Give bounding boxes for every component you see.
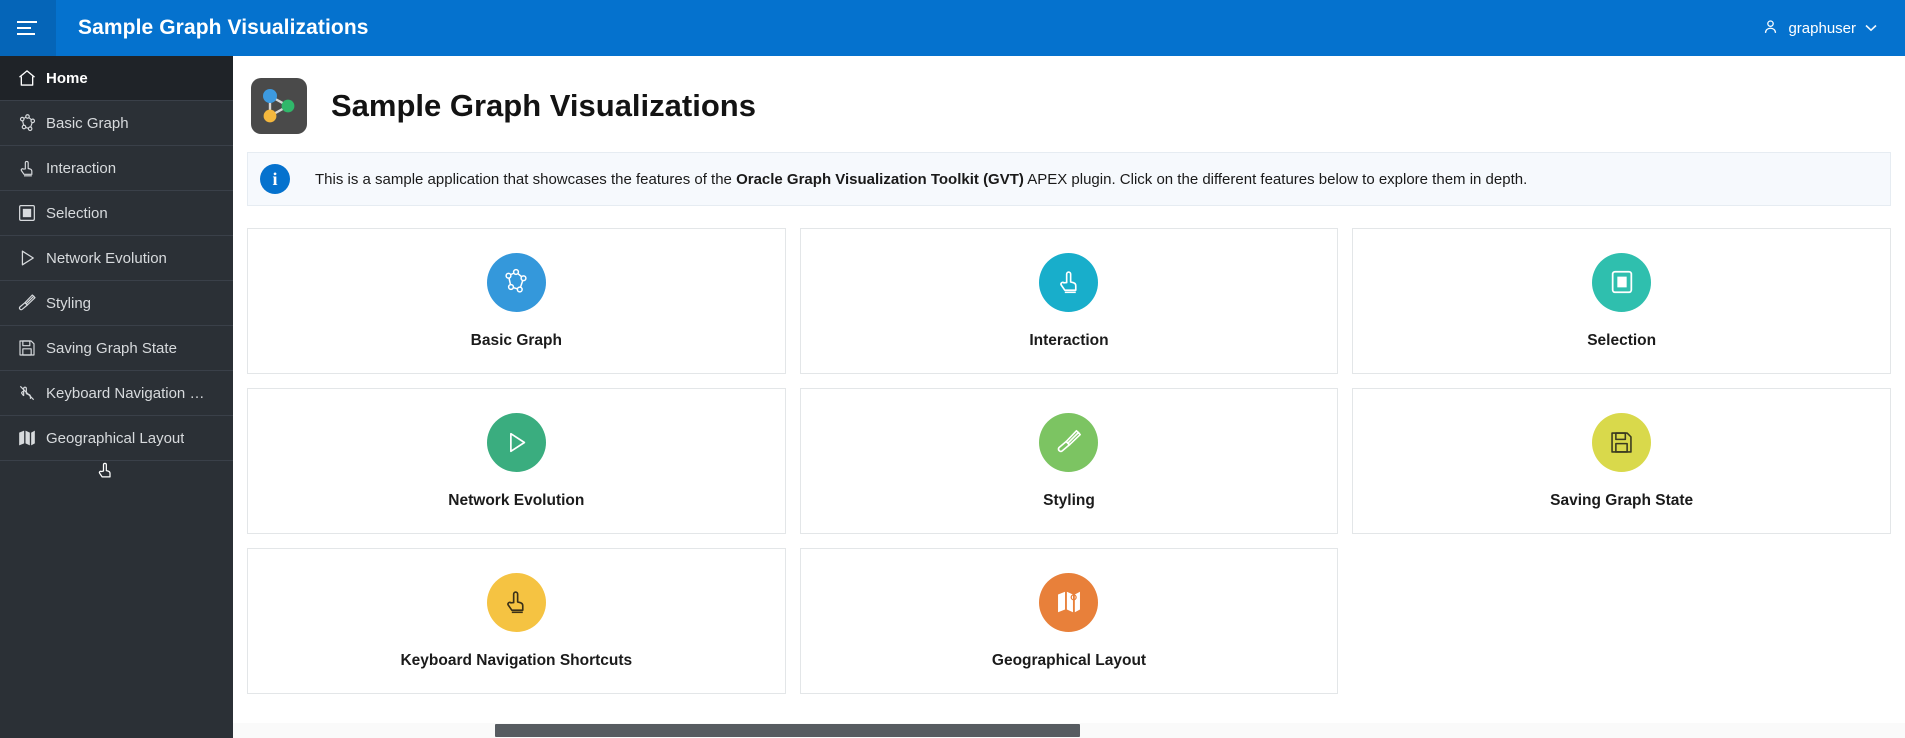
floppy-disk-icon (8, 335, 46, 361)
sidebar-item-label: Saving Graph State (46, 340, 177, 357)
graph-nodes-icon (8, 110, 46, 136)
sidebar-item-label: Selection (46, 205, 108, 222)
card-icon-circle (1592, 253, 1651, 312)
pointing-hand-icon (502, 587, 530, 617)
feature-card-interaction[interactable]: Interaction (800, 228, 1339, 374)
feature-card-network-evolution[interactable]: Network Evolution (247, 388, 786, 534)
sidebar-item-saving-graph-state[interactable]: Saving Graph State (0, 326, 233, 371)
card-icon-circle (1039, 413, 1098, 472)
page-header: Sample Graph Visualizations (233, 56, 1905, 152)
keyboard-nav-icon (8, 380, 46, 406)
feature-card-label: Interaction (1029, 332, 1108, 350)
home-icon (8, 65, 46, 91)
graph-logo-icon (251, 78, 307, 134)
floppy-disk-icon (1608, 429, 1635, 456)
paintbrush-icon (1055, 428, 1083, 456)
feature-card-grid: Basic Graph Interaction (233, 206, 1905, 694)
horizontal-scrollbar-track[interactable] (233, 723, 1905, 738)
sidebar-item-styling[interactable]: Styling (0, 281, 233, 326)
card-icon-circle (1039, 573, 1098, 632)
feature-card-label: Selection (1587, 332, 1656, 350)
feature-card-basic-graph[interactable]: Basic Graph (247, 228, 786, 374)
sidebar-item-network-evolution[interactable]: Network Evolution (0, 236, 233, 281)
sidebar-item-interaction[interactable]: Interaction (0, 146, 233, 191)
info-banner: i This is a sample application that show… (247, 152, 1891, 206)
feature-card-label: Styling (1043, 492, 1095, 510)
sidebar-item-label: Geographical Layout (46, 430, 184, 447)
feature-card-saving-graph-state[interactable]: Saving Graph State (1352, 388, 1891, 534)
card-icon-circle (487, 573, 546, 632)
map-icon (8, 425, 46, 451)
sidebar-item-home[interactable]: Home (0, 56, 233, 101)
hamburger-menu-button[interactable] (0, 0, 56, 56)
play-triangle-icon (503, 429, 530, 456)
feature-card-keyboard-navigation-shortcuts[interactable]: Keyboard Navigation Shortcuts (247, 548, 786, 694)
page-title: Sample Graph Visualizations (331, 88, 756, 124)
sidebar-navigation: Home Basic Graph (0, 56, 233, 738)
card-icon-circle (1039, 253, 1098, 312)
horizontal-scrollbar-thumb[interactable] (495, 724, 1080, 737)
sidebar-item-keyboard-navigation-shortcuts[interactable]: Keyboard Navigation Shortc… (0, 371, 233, 416)
mouse-cursor-pointer-icon (96, 460, 116, 482)
top-navigation-bar: Sample Graph Visualizations graphuser (0, 0, 1905, 56)
username-label: graphuser (1788, 20, 1856, 37)
sidebar-item-label: Interaction (46, 160, 116, 177)
info-banner-text-after: APEX plugin. Click on the different feat… (1024, 171, 1527, 188)
sidebar-item-basic-graph[interactable]: Basic Graph (0, 101, 233, 146)
info-banner-text-bold: Oracle Graph Visualization Toolkit (GVT) (736, 171, 1024, 188)
app-title: Sample Graph Visualizations (78, 16, 369, 40)
feature-card-label: Basic Graph (471, 332, 562, 350)
card-icon-circle (487, 413, 546, 472)
square-select-icon (1608, 268, 1636, 296)
sidebar-item-selection[interactable]: Selection (0, 191, 233, 236)
grid-empty-cell (1352, 548, 1891, 694)
info-icon: i (260, 164, 290, 194)
graph-nodes-icon (501, 267, 531, 297)
feature-card-selection[interactable]: Selection (1352, 228, 1891, 374)
chevron-down-icon (1865, 21, 1877, 35)
user-menu-button[interactable]: graphuser (1762, 18, 1877, 39)
sidebar-item-geographical-layout[interactable]: Geographical Layout (0, 416, 233, 461)
feature-card-styling[interactable]: Styling (800, 388, 1339, 534)
main-content: Sample Graph Visualizations i This is a … (233, 56, 1905, 738)
sidebar-item-label: Home (46, 70, 88, 87)
sidebar-item-label: Keyboard Navigation Shortc… (46, 385, 214, 402)
paintbrush-icon (8, 290, 46, 316)
hamburger-icon (17, 20, 39, 36)
sidebar-item-label: Styling (46, 295, 91, 312)
app-root: Sample Graph Visualizations graphuser (0, 0, 1905, 738)
card-icon-circle (487, 253, 546, 312)
feature-card-label: Saving Graph State (1550, 492, 1693, 510)
info-banner-text: This is a sample application that showca… (315, 171, 1527, 188)
map-icon (1055, 588, 1083, 616)
sidebar-item-label: Network Evolution (46, 250, 167, 267)
feature-card-geographical-layout[interactable]: Geographical Layout (800, 548, 1339, 694)
feature-card-label: Geographical Layout (992, 652, 1146, 670)
sidebar-item-label: Basic Graph (46, 115, 129, 132)
feature-card-label: Keyboard Navigation Shortcuts (400, 652, 632, 670)
square-select-icon (8, 200, 46, 226)
pointing-hand-icon (1055, 267, 1083, 297)
feature-card-label: Network Evolution (448, 492, 584, 510)
info-banner-text-before: This is a sample application that showca… (315, 171, 736, 188)
play-triangle-icon (8, 245, 46, 271)
user-avatar-icon (1762, 18, 1779, 39)
pointing-hand-icon (8, 155, 46, 181)
card-icon-circle (1592, 413, 1651, 472)
